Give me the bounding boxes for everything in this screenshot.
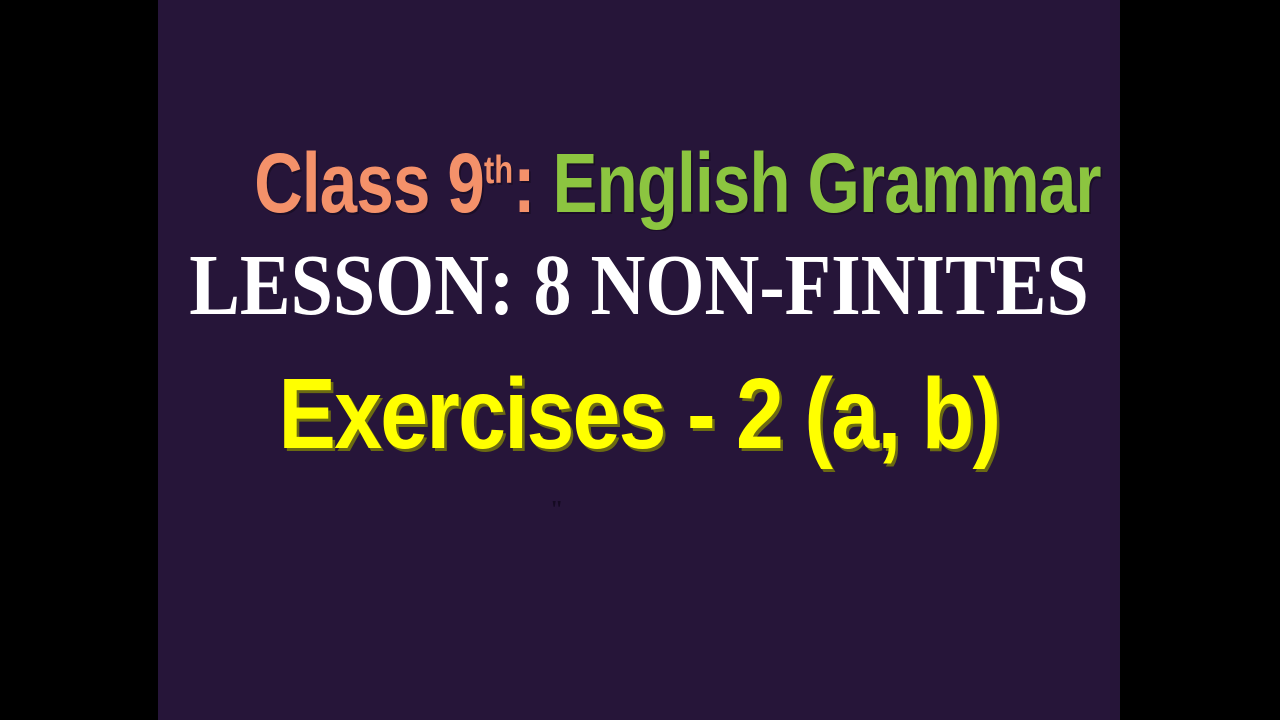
letterbox-bar-left — [0, 0, 158, 720]
subject-label: English Grammar — [535, 136, 1101, 230]
title-line-class-subject: Class 9th: English Grammar — [254, 123, 1024, 231]
exercises-heading: Exercises - 2 (a, b) — [225, 358, 1052, 470]
slide-root: Class 9th: English Grammar LESSON: 8 NON… — [0, 0, 1280, 720]
class-label-text: Class 9 — [254, 136, 484, 230]
class-label: Class 9th: — [254, 136, 535, 230]
lesson-heading: LESSON: 8 NON-FINITES — [182, 236, 1096, 335]
class-separator: : — [513, 136, 535, 230]
letterbox-bar-right — [1120, 0, 1280, 720]
video-content-frame: Class 9th: English Grammar LESSON: 8 NON… — [158, 0, 1120, 720]
class-ordinal-suffix: th — [484, 149, 513, 192]
stray-quote-artifact: " — [550, 498, 563, 522]
